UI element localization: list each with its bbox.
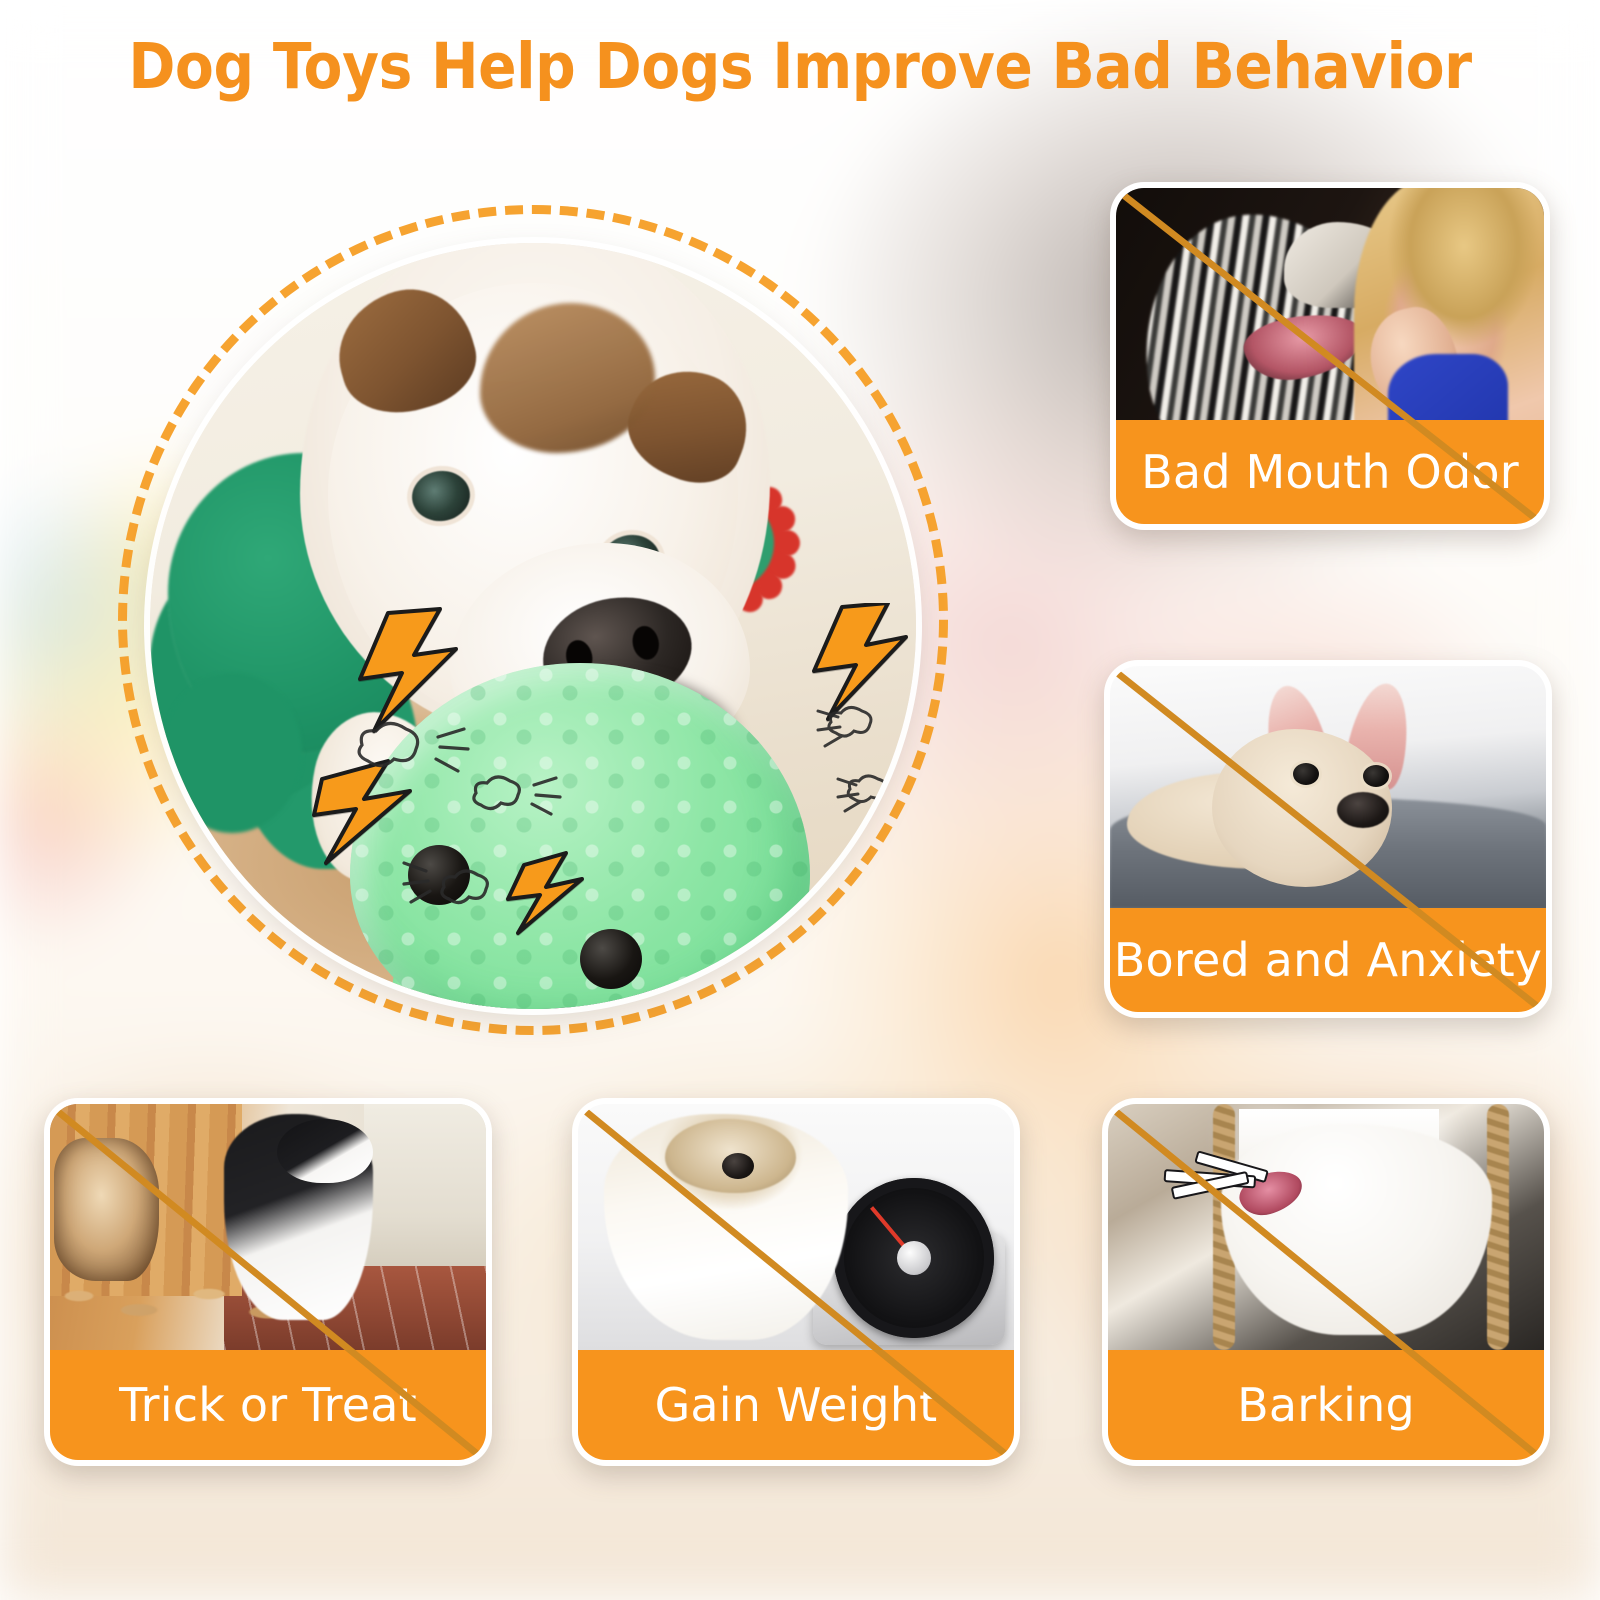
swing-rope-right (1487, 1104, 1509, 1350)
scale-dial (834, 1178, 994, 1338)
bathroom-wall (364, 1104, 486, 1291)
bark-sound-lines-icon (1152, 1138, 1353, 1212)
problem-card-bad-mouth-odor[interactable]: Bad Mouth Odor (1110, 182, 1550, 530)
card-label-barking: Barking (1108, 1350, 1544, 1460)
card-photo-barking (1108, 1104, 1544, 1350)
card-photo-bored-and-anxiety (1110, 666, 1546, 908)
puppy-eye-left (1293, 763, 1319, 785)
rug-green-motif-2 (162, 673, 302, 833)
card-label-gain-weight: Gain Weight (578, 1350, 1014, 1460)
bathroom-scale (813, 1232, 1005, 1345)
hero-dog-photo (150, 243, 916, 1009)
page-title: Dog Toys Help Dogs Improve Bad Behavior (80, 34, 1520, 100)
card-photo-trick-or-treat (50, 1104, 486, 1350)
card-label-trick-or-treat: Trick or Treat (50, 1350, 486, 1460)
problem-card-bored-and-anxiety[interactable]: Bored and Anxiety (1104, 660, 1552, 1018)
squeak-effect-left (310, 603, 770, 963)
hero-image-block (118, 205, 948, 1035)
problem-card-trick-or-treat[interactable]: Trick or Treat (44, 1098, 492, 1466)
product-infographic-poster: Dog Toys Help Dogs Improve Bad Behavior (0, 0, 1600, 1600)
blue-shirt (1388, 354, 1508, 420)
problem-card-gain-weight[interactable]: Gain Weight (572, 1098, 1020, 1466)
card-label-bad-mouth-odor: Bad Mouth Odor (1116, 420, 1544, 524)
puppy-nose (1337, 792, 1389, 828)
card-label-bored-and-anxiety: Bored and Anxiety (1110, 908, 1546, 1012)
boston-terrier-face (277, 1119, 373, 1183)
problem-card-barking[interactable]: Barking (1102, 1098, 1550, 1466)
chewed-hole (54, 1138, 159, 1281)
scale-hub (897, 1241, 931, 1275)
card-photo-bad-mouth-odor (1116, 188, 1544, 420)
squeak-effect-right (710, 603, 916, 943)
puppy-eye-right (1363, 765, 1389, 787)
card-photo-gain-weight (578, 1104, 1014, 1350)
shih-tzu-nose (722, 1153, 754, 1179)
